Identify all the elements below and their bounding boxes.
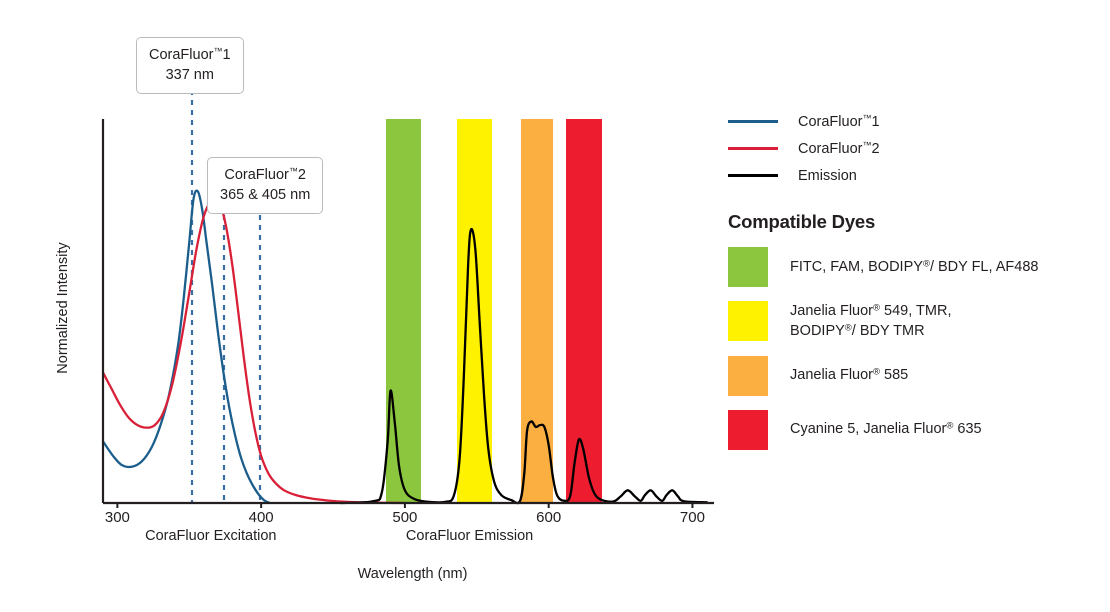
dye-swatch-1: [728, 301, 768, 341]
legend-row-0: CoraFluor™1: [728, 108, 1110, 135]
trademark-glyph: ™: [289, 166, 298, 176]
callout-cf2-line1: CoraFluor™2: [220, 165, 310, 186]
legend-line-label-1: CoraFluor™2: [798, 140, 880, 157]
legend-line-swatch-2: [728, 174, 778, 177]
dye-swatch-0: [728, 247, 768, 287]
dye-label-line: Janelia Fluor® 585: [790, 365, 908, 385]
dye-label-3: Cyanine 5, Janelia Fluor® 635: [790, 419, 982, 439]
x-tick-label-300: 300: [87, 509, 147, 526]
dye-label-1: Janelia Fluor® 549, TMR,BODIPY®/ BDY TMR: [790, 301, 951, 342]
x-axis-label: Wavelength (nm): [0, 566, 825, 582]
x-tick-label-700: 700: [662, 509, 722, 526]
x-tick-label-500: 500: [375, 509, 435, 526]
registered-glyph: ®: [873, 367, 880, 378]
x-section-label-0: CoraFluor Excitation: [101, 528, 321, 544]
registered-glyph: ®: [946, 421, 953, 432]
callout-cf1-line1: CoraFluor™1: [149, 45, 231, 66]
legend-line-label-2: Emission: [798, 168, 857, 184]
dye-swatch-3: [728, 410, 768, 450]
legend-line-swatch-0: [728, 120, 778, 123]
legend-panel: CoraFluor™1CoraFluor™2Emission Compatibl…: [728, 108, 1110, 450]
red-band: [566, 119, 602, 503]
x-section-label-1: CoraFluor Emission: [360, 528, 580, 544]
dye-label-0: FITC, FAM, BODIPY®/ BDY FL, AF488: [790, 257, 1038, 277]
dye-label-line: FITC, FAM, BODIPY®/ BDY FL, AF488: [790, 257, 1038, 277]
callout-corafluor-2: CoraFluor™2 365 & 405 nm: [207, 157, 323, 214]
callout-cf2-line2: 365 & 405 nm: [220, 186, 310, 206]
dye-row-1: Janelia Fluor® 549, TMR,BODIPY®/ BDY TMR: [728, 301, 1110, 342]
dye-swatch-2: [728, 356, 768, 396]
dye-label-line: BODIPY®/ BDY TMR: [790, 321, 951, 341]
x-tick-label-400: 400: [231, 509, 291, 526]
y-axis-label: Normalized Intensity: [55, 228, 71, 388]
dye-label-line: Janelia Fluor® 549, TMR,: [790, 301, 951, 321]
green-band: [386, 119, 421, 503]
curve-excitation-CoraFluor1: [103, 191, 270, 503]
dye-row-2: Janelia Fluor® 585: [728, 356, 1110, 396]
callout-corafluor-1: CoraFluor™1 337 nm: [136, 37, 244, 94]
chart-area: CoraFluor™1 337 nm CoraFluor™2 365 & 405…: [0, 0, 720, 612]
dye-label-line: Cyanine 5, Janelia Fluor® 635: [790, 419, 982, 439]
compatible-dyes-list: FITC, FAM, BODIPY®/ BDY FL, AF488Janelia…: [728, 247, 1110, 450]
dye-row-3: Cyanine 5, Janelia Fluor® 635: [728, 410, 1110, 450]
registered-glyph: ®: [873, 302, 880, 313]
legend-series-list: CoraFluor™1CoraFluor™2Emission: [728, 108, 1110, 189]
figure-root: CoraFluor™1 337 nm CoraFluor™2 365 & 405…: [0, 0, 1110, 612]
dye-row-0: FITC, FAM, BODIPY®/ BDY FL, AF488: [728, 247, 1110, 287]
legend-row-2: Emission: [728, 162, 1110, 189]
legend-line-label-0: CoraFluor™1: [798, 113, 880, 130]
registered-glyph: ®: [923, 258, 930, 269]
callout-cf1-line2: 337 nm: [149, 66, 231, 86]
compatible-dyes-title: Compatible Dyes: [728, 211, 1110, 233]
registered-glyph: ®: [845, 323, 852, 334]
yellow-band: [457, 119, 492, 503]
x-tick-label-600: 600: [519, 509, 579, 526]
dye-label-2: Janelia Fluor® 585: [790, 365, 908, 385]
legend-line-swatch-1: [728, 147, 778, 150]
legend-row-1: CoraFluor™2: [728, 135, 1110, 162]
curve-excitation-CoraFluor2: [103, 198, 405, 503]
